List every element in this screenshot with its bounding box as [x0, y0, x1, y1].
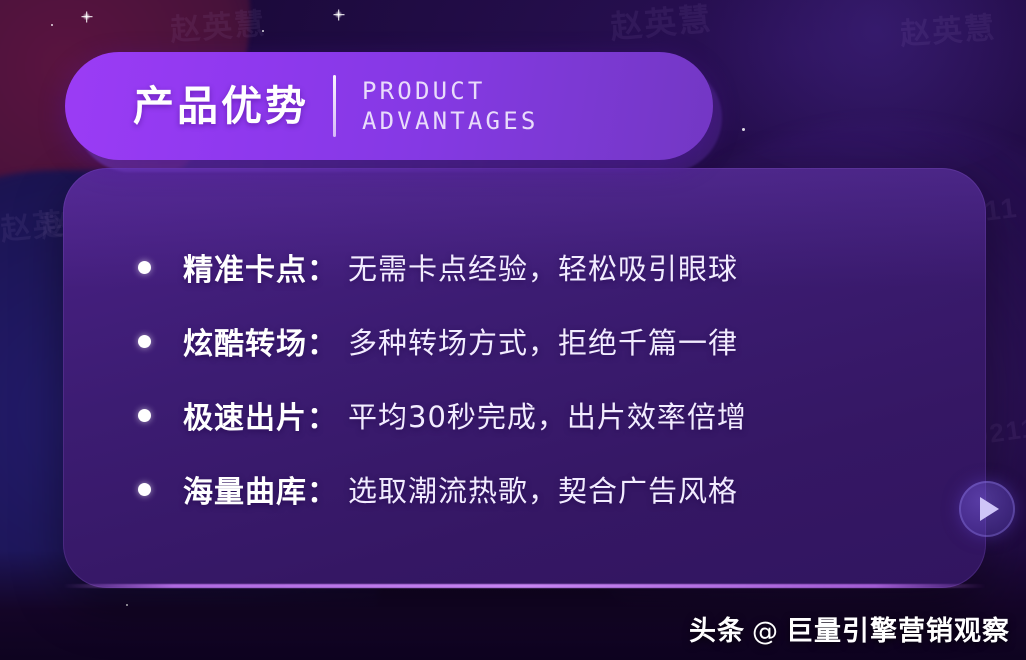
header-subtitle-line1: PRODUCT — [362, 76, 539, 106]
advantage-text: 多种转场方式，拒绝千篇一律 — [348, 320, 738, 362]
advantage-list: 精准卡点：无需卡点经验，轻松吸引眼球炫酷转场：多种转场方式，拒绝千篇一律极速出片… — [63, 168, 986, 526]
page-title: 产品优势 — [133, 86, 309, 127]
play-icon[interactable] — [959, 481, 1015, 537]
star-dot-icon — [262, 30, 264, 32]
bullet-dot-icon — [138, 335, 151, 348]
play-triangle-icon — [980, 497, 999, 521]
header-divider — [333, 75, 336, 137]
watermark-at-symbol: @ — [752, 617, 779, 647]
header-pill: 产品优势 PRODUCT ADVANTAGES — [65, 52, 713, 160]
advantage-row: 炫酷转场：多种转场方式，拒绝千篇一律 — [63, 304, 986, 378]
header-subtitle-line2: ADVANTAGES — [362, 106, 539, 136]
slide-canvas: 赵英慧赵英慧赵英慧赵英慧赵英慧 0211赵英慧 0211赵英慧 0211赵英慧 … — [0, 0, 1026, 660]
star-dot-icon — [51, 24, 53, 26]
advantage-label: 海量曲库： — [183, 467, 338, 511]
bullet-dot-icon — [138, 483, 151, 496]
advantage-label: 精准卡点： — [183, 245, 338, 289]
content-panel: 精准卡点：无需卡点经验，轻松吸引眼球炫酷转场：多种转场方式，拒绝千篇一律极速出片… — [63, 168, 986, 588]
sparkle-icon — [82, 12, 91, 21]
watermark-account: 巨量引擎营销观察 — [786, 609, 1010, 648]
sparkle-icon — [334, 10, 343, 19]
advantage-label: 炫酷转场： — [183, 319, 338, 363]
star-dot-icon — [126, 604, 128, 606]
advantage-text: 无需卡点经验，轻松吸引眼球 — [348, 246, 738, 288]
advantage-text: 选取潮流热歌，契合广告风格 — [348, 468, 738, 510]
advantage-row: 精准卡点：无需卡点经验，轻松吸引眼球 — [63, 230, 986, 304]
star-dot-icon — [742, 128, 745, 131]
bullet-dot-icon — [138, 409, 151, 422]
advantage-row: 海量曲库：选取潮流热歌，契合广告风格 — [63, 452, 986, 526]
advantage-text: 平均30秒完成，出片效率倍增 — [348, 394, 747, 436]
advantage-label: 极速出片： — [183, 393, 338, 437]
header-subtitle: PRODUCT ADVANTAGES — [362, 76, 539, 136]
panel-bottom-highlight — [63, 584, 986, 588]
bullet-dot-icon — [138, 261, 151, 274]
watermark-brand: 头条 — [689, 609, 745, 648]
advantage-row: 极速出片：平均30秒完成，出片效率倍增 — [63, 378, 986, 452]
watermark: 头条 @ 巨量引擎营销观察 — [689, 609, 1010, 648]
